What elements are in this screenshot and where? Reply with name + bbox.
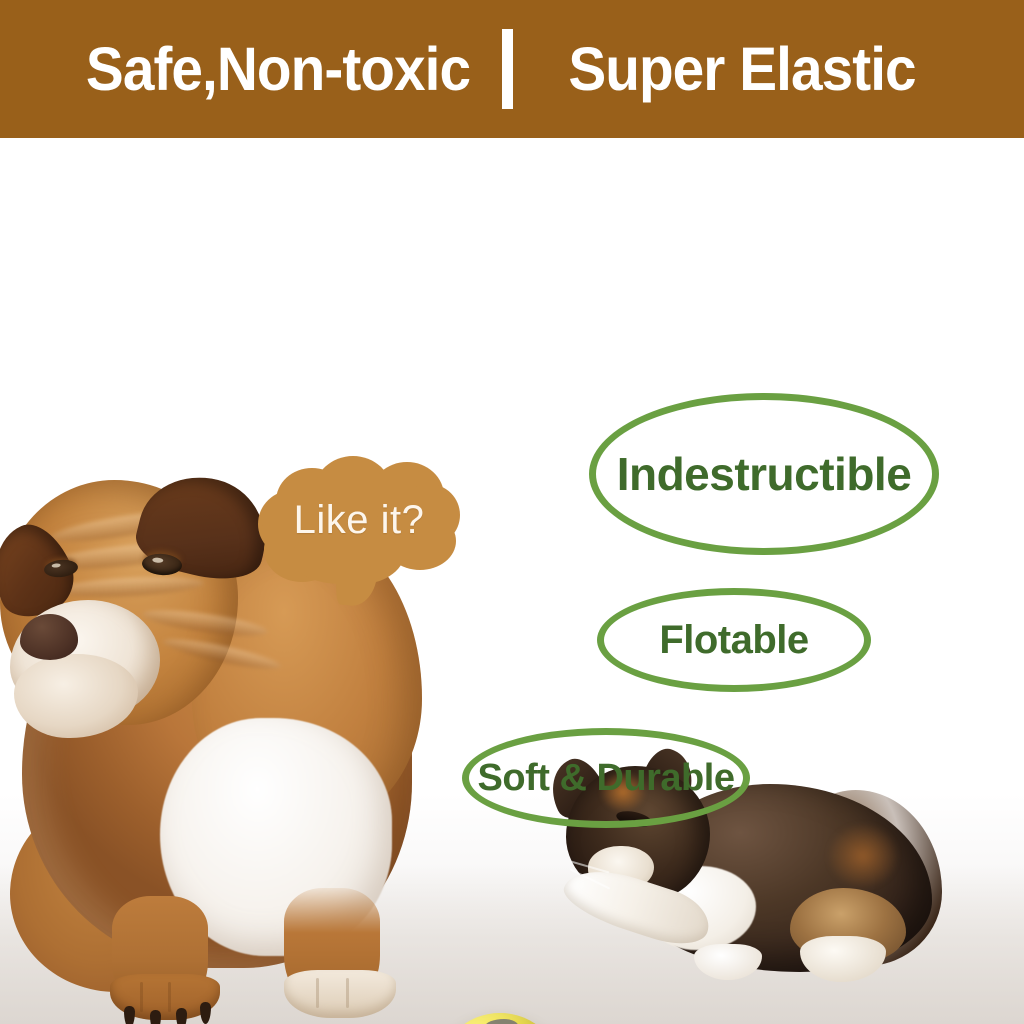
callout-soft-durable: Soft & Durable bbox=[462, 728, 750, 828]
product-poster: Safe,Non-toxic Super Elastic bbox=[0, 0, 1024, 1024]
callout-indestructible: Indestructible bbox=[589, 393, 939, 555]
dog-front-left-paw bbox=[110, 974, 220, 1020]
cat-rear-paw bbox=[800, 936, 886, 982]
banner-right-text: Super Elastic bbox=[542, 39, 942, 100]
banner-left-text: Safe,Non-toxic bbox=[82, 39, 473, 100]
cat-ginger-patch bbox=[828, 824, 898, 888]
callout-label: Soft & Durable bbox=[462, 728, 750, 828]
dog-front-right-paw bbox=[284, 970, 396, 1018]
header-banner: Safe,Non-toxic Super Elastic bbox=[0, 0, 1024, 138]
dog-nose bbox=[20, 614, 78, 660]
product-photo-stage: Like it? Indestructible Flotable Soft & … bbox=[0, 138, 1024, 1024]
callout-label: Indestructible bbox=[589, 393, 939, 555]
cat-front-paw bbox=[694, 944, 762, 980]
speech-bubble-text: Like it? bbox=[258, 500, 460, 540]
callout-flotable: Flotable bbox=[597, 588, 871, 692]
banner-divider bbox=[502, 29, 513, 109]
speech-bubble: Like it? bbox=[258, 456, 460, 584]
callout-label: Flotable bbox=[597, 588, 871, 692]
